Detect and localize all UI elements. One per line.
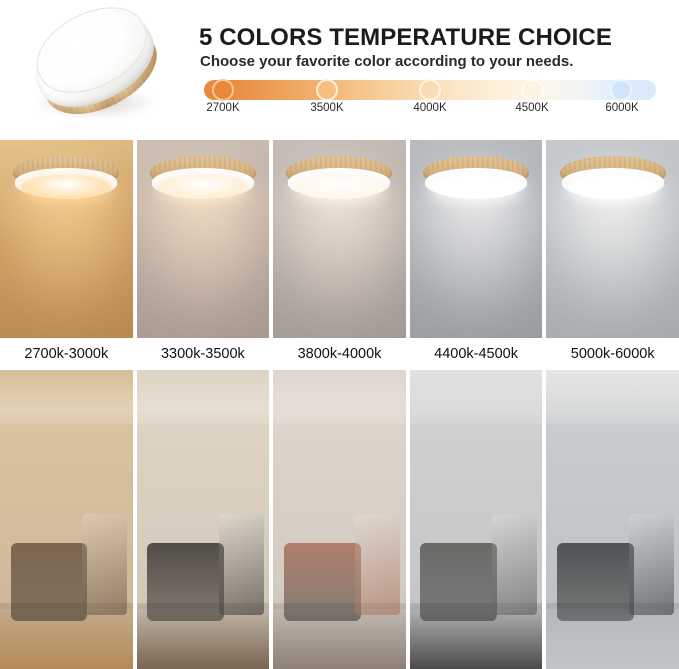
lamp-panel-2 [137, 140, 270, 338]
scene-furniture [11, 543, 88, 621]
room-scene-living-room-warm [0, 370, 133, 669]
temperature-marker-3500k[interactable] [316, 79, 338, 101]
ceiling-lamp-product-icon [16, 0, 178, 141]
lamp-diffuser [294, 175, 384, 199]
lamp-diffuser [158, 175, 248, 199]
temperature-marker-4500k[interactable] [522, 79, 544, 101]
scene-furniture-secondary [219, 514, 264, 616]
temperature-label-5: 6000K [592, 102, 652, 114]
ceiling-lamp-daylight-icon [560, 156, 666, 204]
panel-caption-1: 2700k-3000k [0, 338, 133, 370]
panel-caption-5: 5000k-6000k [546, 338, 679, 370]
room-scene-kitchen-dark [410, 370, 543, 669]
scene-furniture-secondary [355, 514, 400, 616]
temperature-label-1: 2700K [193, 102, 253, 114]
panel-caption-4: 4400k-4500k [410, 338, 543, 370]
temperature-marker-6000k[interactable] [610, 79, 632, 101]
scene-furniture [147, 543, 224, 621]
panel-caption-3: 3800k-4000k [273, 338, 406, 370]
scene-furniture-secondary [492, 514, 537, 616]
scene-furniture-secondary [82, 514, 127, 616]
header-section: 5 COLORS TEMPERATURE CHOICE Choose your … [0, 0, 679, 140]
room-scene-kitchen-window-cool [546, 370, 679, 669]
caption-row: 2700k-3000k3300k-3500k3800k-4000k4400k-4… [0, 338, 679, 370]
lamp-panel-3 [273, 140, 406, 338]
scene-furniture-secondary [629, 514, 674, 616]
ceiling-lamp-cool-icon [423, 156, 529, 204]
ceiling-lamp-warm-icon [13, 156, 119, 204]
page-subtitle: Choose your favorite color according to … [200, 53, 670, 73]
temperature-label-2: 3500K [297, 102, 357, 114]
scene-furniture [420, 543, 497, 621]
room-scene-row [0, 370, 679, 669]
lamp-panel-4 [410, 140, 543, 338]
lamp-panel-1 [0, 140, 133, 338]
lamp-diffuser [431, 175, 521, 199]
lamp-diffuser [21, 175, 111, 199]
product-hero-image [8, 2, 186, 136]
product-infographic: 5 COLORS TEMPERATURE CHOICE Choose your … [0, 0, 679, 669]
room-scene-dining-room-warm [137, 370, 270, 669]
panel-caption-2: 3300k-3500k [137, 338, 270, 370]
scene-furniture [284, 543, 361, 621]
ceiling-lamp-neutral-icon [286, 156, 392, 204]
ceiling-lamp-soft-warm-icon [150, 156, 256, 204]
scene-furniture [557, 543, 634, 621]
temperature-label-3: 4000K [400, 102, 460, 114]
lamp-diffuser [568, 175, 658, 199]
lamp-panel-row [0, 140, 679, 338]
temperature-label-4: 4500K [502, 102, 562, 114]
temperature-marker-4000k[interactable] [419, 79, 441, 101]
lamp-panel-5 [546, 140, 679, 338]
page-title: 5 COLORS TEMPERATURE CHOICE [199, 24, 669, 52]
temperature-marker-2700k[interactable] [212, 79, 234, 101]
room-scene-dining-table-neutral [273, 370, 406, 669]
temperature-gradient-bar: 2700K 3500K 4000K 4500K 6000K [204, 80, 656, 100]
